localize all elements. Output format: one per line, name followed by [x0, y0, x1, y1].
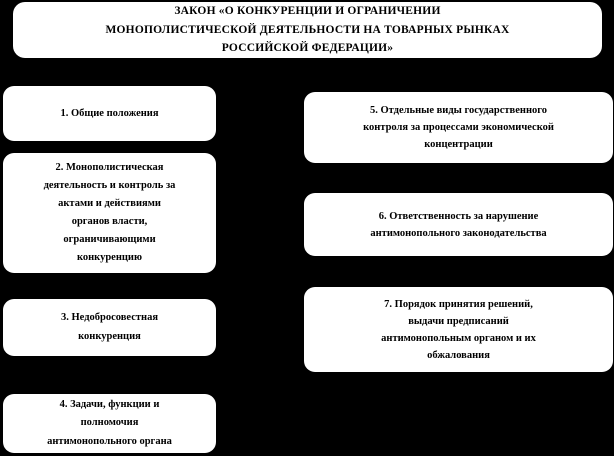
diagram-node-6-label: 6. Ответственность за нарушение антимоно…: [311, 208, 606, 242]
diagram-node-3-unfair-competition: 3. Недобросовестная конкуренция: [3, 299, 216, 356]
diagram-node-6-liability: 6. Ответственность за нарушение антимоно…: [304, 193, 613, 256]
diagram-canvas: ЗАКОН «О КОНКУРЕНЦИИ И ОГРАНИЧЕНИИ МОНОП…: [0, 0, 614, 456]
diagram-node-3-label: 3. Недобросовестная конкуренция: [10, 309, 209, 345]
diagram-node-2-monopolistic-activity: 2. Монополистическая деятельность и конт…: [3, 153, 216, 273]
diagram-title-text: ЗАКОН «О КОНКУРЕНЦИИ И ОГРАНИЧЕНИИ МОНОП…: [20, 2, 595, 58]
diagram-node-4-label: 4. Задачи, функции и полномочия антимоно…: [10, 396, 209, 450]
diagram-title-box: ЗАКОН «О КОНКУРЕНЦИИ И ОГРАНИЧЕНИИ МОНОП…: [13, 2, 602, 58]
diagram-node-4-antimonopoly-body-powers: 4. Задачи, функции и полномочия антимоно…: [3, 394, 216, 453]
diagram-node-5-state-control-types: 5. Отдельные виды государственного контр…: [304, 92, 613, 163]
diagram-node-2-label: 2. Монополистическая деятельность и конт…: [10, 159, 209, 266]
diagram-node-5-label: 5. Отдельные виды государственного контр…: [311, 102, 606, 153]
diagram-node-1-label: 1. Общие положения: [10, 107, 209, 121]
diagram-node-1-general-provisions: 1. Общие положения: [3, 86, 216, 141]
diagram-node-7-label: 7. Порядок принятия решений, выдачи пред…: [311, 296, 606, 364]
diagram-node-7-decision-procedure: 7. Порядок принятия решений, выдачи пред…: [304, 287, 613, 372]
